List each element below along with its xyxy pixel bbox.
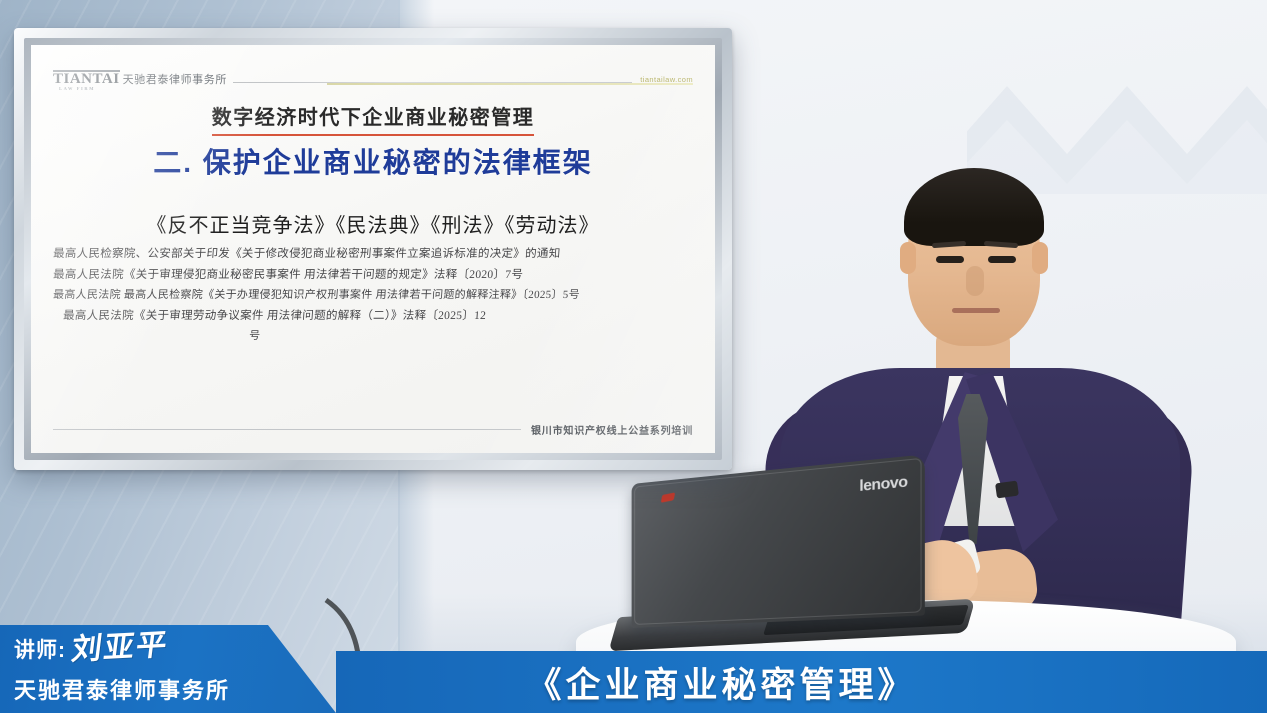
laptop-accent-stripe [661,492,676,502]
slide-annotations: 最高人民检察院、公安部关于印发《关于修改侵犯商业秘密刑事案件立案追诉标准的决定》… [49,249,701,352]
annotation-line-continuation: 号 [49,331,702,342]
program-title-banner: 《企业商业秘密管理》 [336,651,1267,713]
presentation-slide: TIANTAI LAW FIRM 天驰君泰律师事务所 tiantailaw.co… [31,45,715,453]
slide-frame: TIANTAI LAW FIRM 天驰君泰律师事务所 tiantailaw.co… [14,28,732,470]
program-title: 《企业商业秘密管理》 [526,657,916,708]
presenter-mouth [952,308,1000,313]
logo-top-bar [53,70,120,72]
footer-divider [53,429,521,430]
logo-firm-name-cn: 天驰君泰律师事务所 [123,71,227,87]
laptop[interactable]: lenovo [614,470,1014,650]
annotation-line: 最高人民法院《关于审理侵犯商业秘密民事案件 用法律若干问题的规定》法释〔2020… [49,270,702,282]
slide-main-title-text: 数字经济时代下企业商业秘密管理 [212,101,535,136]
slide-main-title: 数字经济时代下企业商业秘密管理 [31,101,715,136]
instructor-label: 讲师: [14,640,66,663]
logo-wordmark: TIANTAI LAW FIRM [53,72,120,87]
logo-wordmark-text: TIANTAI [53,71,120,87]
instructor-name: 刘亚平 [70,631,170,666]
logo-subtext: LAW FIRM [59,87,95,92]
annotation-line: 最高人民法院《关于审理劳动争议案件 用法律问题的解释（二）》法释〔2025〕12 [49,311,702,323]
slide-footer-text: 银川市知识产权线上公益系列培训 [531,422,693,437]
annotation-line: 最高人民法院 最高人民检察院《关于办理侵犯知识产权刑事案件 用法律若干问题的解释… [49,290,702,301]
slide-law-list: 《反不正当竞争法》《民法典》《刑法》《劳动法》 [31,209,715,238]
instructor-firm: 天驰君泰律师事务所 [14,673,230,705]
presenter-ear-left [900,242,916,274]
instructor-row: 讲师: 刘亚平 [14,633,168,663]
firm-website: tiantailaw.com [640,75,693,87]
presenter-nose [966,266,984,296]
lenovo-logo: lenovo [859,473,907,495]
slide-footer: 银川市知识产权线上公益系列培训 [53,422,693,437]
firm-logo: TIANTAI LAW FIRM 天驰君泰律师事务所 [53,71,227,87]
header-accent-rule [327,83,693,85]
slide-frame-inner: TIANTAI LAW FIRM 天驰君泰律师事务所 tiantailaw.co… [24,38,722,460]
slide-section-title: 二. 保护企业商业秘密的法律框架 [31,141,715,181]
video-frame: lenovo TIANTAI LAW FIRM 天驰君泰律师事务所 tiant [0,0,1267,713]
annotation-line: 最高人民检察院、公安部关于印发《关于修改侵犯商业秘密刑事案件立案追诉标准的决定》… [49,249,702,261]
presenter-eye-left [936,256,964,263]
presenter-eye-right [988,256,1016,263]
presenter-hair [904,168,1044,246]
laptop-lid: lenovo [632,454,925,628]
presenter-ear-right [1032,242,1048,274]
